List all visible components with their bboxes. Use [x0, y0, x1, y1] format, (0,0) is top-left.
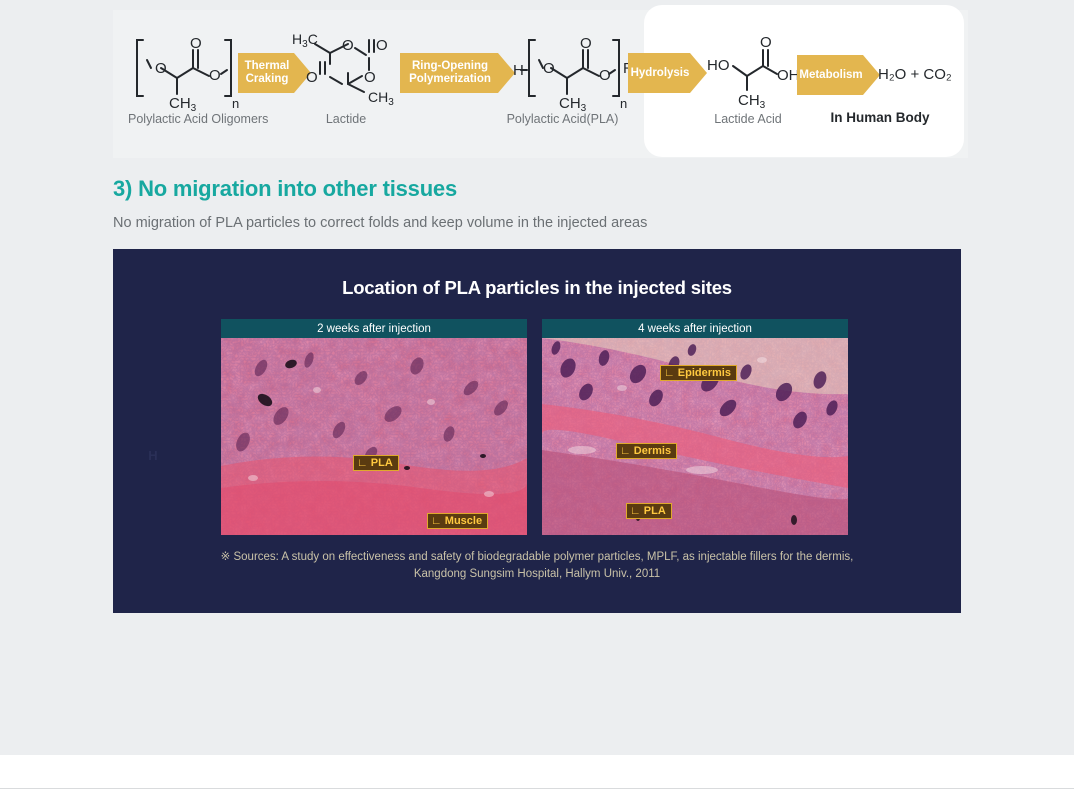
label-tag-text: Muscle — [445, 515, 482, 527]
label-tag-muscle: ∟ Muscle — [427, 513, 488, 529]
arrow-ring-opening-polymerization: Ring-Opening Polymerization — [400, 53, 515, 93]
svg-text:O: O — [580, 35, 592, 52]
svg-text:O: O — [543, 60, 555, 77]
label-tag-text: Epidermis — [678, 367, 731, 379]
angle-arrow-icon: ∟ — [664, 367, 675, 379]
caption-pla: Polylactic Acid(PLA) — [500, 112, 625, 126]
svg-text:n: n — [620, 96, 627, 111]
footer-divider — [0, 788, 1074, 789]
final-products-formula: H₂O + CO₂ — [878, 66, 952, 83]
svg-text:O: O — [342, 37, 354, 54]
angle-arrow-icon: ∟ — [620, 445, 631, 457]
svg-text:O: O — [209, 67, 221, 84]
svg-text:O: O — [306, 69, 318, 86]
label-tag-pla: ∟ PLA — [626, 503, 672, 519]
svg-text:n: n — [232, 96, 239, 111]
molecule-lactide: O O O O H3C CH3 — [292, 30, 402, 112]
footer-band — [0, 755, 1074, 800]
svg-text:H: H — [513, 62, 524, 79]
svg-text:O: O — [155, 60, 167, 77]
arrow-label-metabolism: Metabolism — [799, 69, 862, 82]
pla-location-panel: Location of PLA particles in the injecte… — [113, 249, 961, 613]
svg-text:HO: HO — [707, 57, 730, 74]
svg-text:O: O — [376, 37, 388, 54]
arrow-metabolism: Metabolism — [797, 55, 880, 95]
svg-text:H3C: H3C — [292, 31, 318, 50]
svg-text:O: O — [190, 35, 202, 52]
molecule-pla: H O O O CH3 R n — [513, 28, 638, 113]
svg-text:CH3: CH3 — [738, 92, 766, 110]
svg-text:O: O — [364, 69, 376, 86]
source-line-2: Kangdong Sungsim Hospital, Hallym Univ.,… — [113, 566, 961, 583]
svg-text:O: O — [599, 67, 611, 84]
molecule-lactic-acid: HO O OH CH3 — [705, 28, 810, 110]
source-citation: ※ Sources: A study on effectiveness and … — [113, 549, 961, 583]
source-line-1: ※ Sources: A study on effectiveness and … — [113, 549, 961, 566]
histology-image-2-weeks: ∟ PLA ∟ Muscle — [221, 338, 527, 535]
angle-arrow-icon: ∟ — [431, 515, 442, 527]
label-tag-pla: ∟ PLA — [353, 455, 399, 471]
figure-2-weeks: 2 weeks after injection — [221, 319, 527, 535]
page-title: 3) No migration into other tissues — [113, 176, 457, 202]
chemistry-diagram: O O O CH3 H n Polylactic Acid Oligomers … — [0, 0, 1074, 170]
angle-arrow-icon: ∟ — [630, 505, 641, 517]
label-tag-dermis: ∟ Dermis — [616, 443, 677, 459]
arrow-label-ring-opening: Ring-Opening Polymerization — [409, 60, 491, 86]
histology-image-4-weeks: ∟ Epidermis ∟ Dermis ∟ PLA — [542, 338, 848, 535]
svg-text:CH3: CH3 — [368, 89, 394, 108]
page-root: O O O CH3 H n Polylactic Acid Oligomers … — [0, 0, 1074, 800]
caption-lactic-acid: Lactide Acid — [705, 112, 791, 126]
figure-caption-4-weeks: 4 weeks after injection — [542, 319, 848, 338]
svg-text:O: O — [760, 34, 772, 51]
label-tag-text: PLA — [371, 457, 393, 469]
caption-in-human-body: In Human Body — [815, 110, 945, 125]
svg-text:CH3: CH3 — [169, 95, 197, 113]
label-tag-text: PLA — [644, 505, 666, 517]
figure-4-weeks: 4 weeks after injection — [542, 319, 848, 535]
svg-text:CH3: CH3 — [559, 95, 587, 113]
caption-pla-oligomers: Polylactic Acid Oligomers — [128, 112, 268, 126]
histology-texture — [221, 338, 527, 535]
label-tag-text: Dermis — [634, 445, 671, 457]
page-subtitle: No migration of PLA particles to correct… — [113, 215, 647, 231]
caption-lactide: Lactide — [306, 112, 386, 126]
label-tag-epidermis: ∟ Epidermis — [660, 365, 737, 381]
arrow-label-thermal-cracking: Thermal Craking — [245, 60, 290, 86]
figure-caption-2-weeks: 2 weeks after injection — [221, 319, 527, 338]
angle-arrow-icon: ∟ — [357, 457, 368, 469]
panel-title: Location of PLA particles in the injecte… — [113, 277, 961, 299]
arrow-hydrolysis: Hydrolysis — [628, 53, 707, 93]
arrow-label-hydrolysis: Hydrolysis — [631, 67, 690, 80]
watermark-icon: H — [145, 447, 161, 463]
